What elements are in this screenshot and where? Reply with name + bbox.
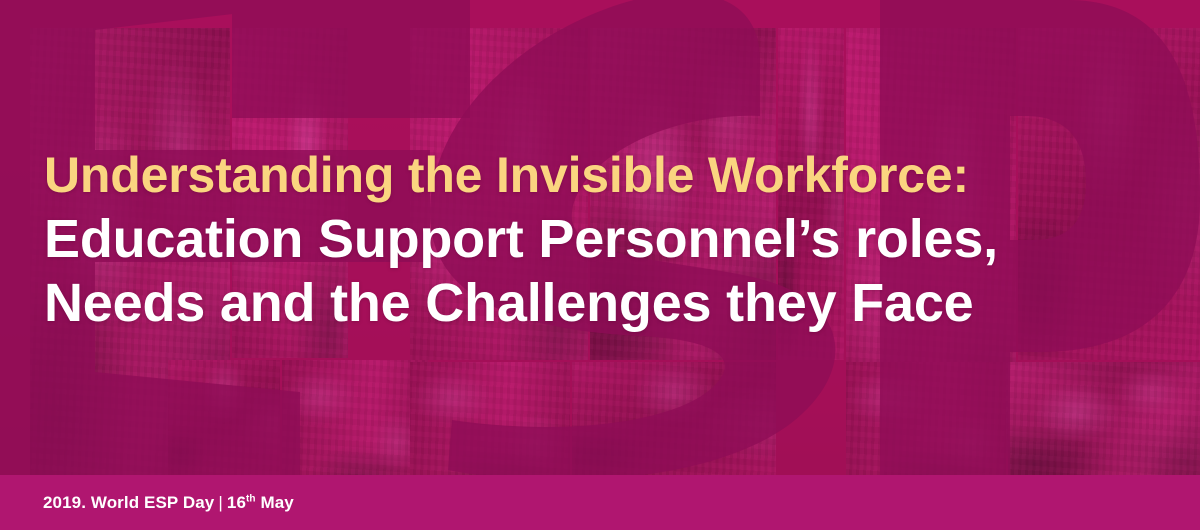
headline-line-1: Understanding the Invisible Workforce:	[44, 150, 1154, 212]
footer-separator: |	[214, 493, 227, 512]
footer-year-label: 2019. World ESP Day	[43, 493, 214, 512]
footer-event-line: 2019. World ESP Day|16th May	[43, 493, 294, 513]
headline-line-3: Needs and the Challenges they Face	[44, 276, 1154, 340]
headline-block: Understanding the Invisible Workforce: E…	[44, 150, 1154, 340]
footer-day-number: 16	[227, 493, 246, 512]
headline-line-2: Education Support Personnel’s roles,	[44, 212, 1154, 276]
footer-bar: 2019. World ESP Day|16th May	[0, 475, 1200, 530]
world-esp-day-banner: Understanding the Invisible Workforce: E…	[0, 0, 1200, 530]
footer-day-ordinal: th	[246, 493, 256, 504]
footer-month: May	[260, 493, 293, 512]
